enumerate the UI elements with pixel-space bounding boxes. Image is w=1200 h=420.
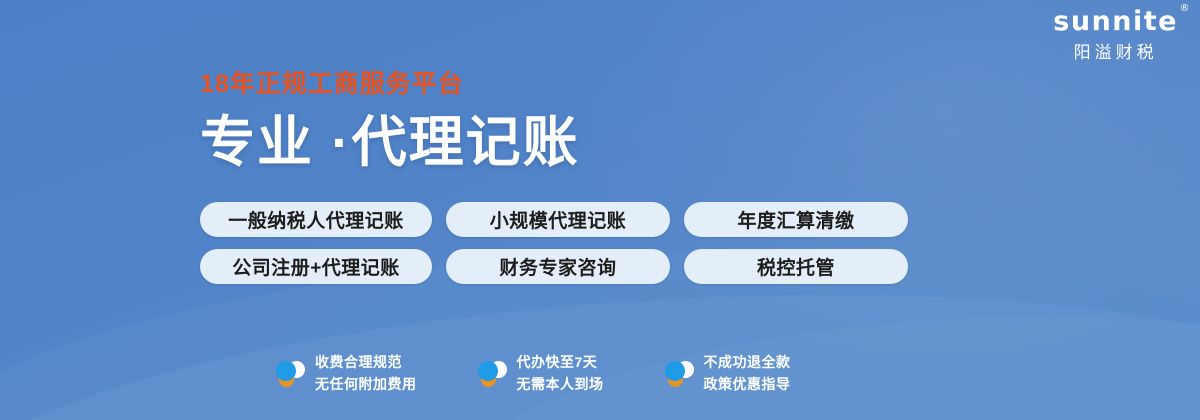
feature-line-1: 收费合理规范 xyxy=(315,352,417,374)
feature-line-1: 代办快至7天 xyxy=(517,352,604,374)
feature-line-2: 政策优惠指导 xyxy=(704,374,791,396)
service-pill[interactable]: 小规模代理记账 xyxy=(446,202,670,237)
service-pill-label: 财务专家咨询 xyxy=(499,253,616,280)
feature-text: 代办快至7天 无需本人到场 xyxy=(517,352,604,395)
feature-item: 收费合理规范 无任何附加费用 xyxy=(275,352,417,395)
headline-block: 18年正规工商服务平台 专业 ·代理记账 xyxy=(200,72,580,172)
logo-wordmark: sunnite ® xyxy=(1053,8,1178,35)
service-pill-group: 一般纳税人代理记账 小规模代理记账 年度汇算清缴 公司注册+代理记账 财务专家咨… xyxy=(200,202,908,284)
service-pill[interactable]: 税控托管 xyxy=(684,249,908,284)
circle-shape xyxy=(665,361,685,381)
logo-wordmark-text: sunnite xyxy=(1053,6,1178,37)
service-pill-label: 公司注册+代理记账 xyxy=(232,253,400,280)
brand-logo[interactable]: sunnite ® 阳溢财税 xyxy=(1053,8,1178,61)
promo-tagline: 18年正规工商服务平台 xyxy=(200,72,580,97)
circle-moon-drop-icon xyxy=(664,359,694,389)
page-title: 专业 ·代理记账 xyxy=(200,113,580,172)
feature-line-1: 不成功退全款 xyxy=(704,352,791,374)
feature-item: 代办快至7天 无需本人到场 xyxy=(477,352,604,395)
service-pill[interactable]: 财务专家咨询 xyxy=(446,249,670,284)
feature-line-2: 无任何附加费用 xyxy=(315,374,417,396)
service-pill-label: 年度汇算清缴 xyxy=(737,206,854,233)
circle-shape xyxy=(276,361,296,381)
service-pill[interactable]: 公司注册+代理记账 xyxy=(200,249,432,284)
service-pill-label: 税控托管 xyxy=(757,253,835,280)
feature-text: 收费合理规范 无任何附加费用 xyxy=(315,352,417,395)
service-pill-label: 一般纳税人代理记账 xyxy=(228,206,404,233)
circle-moon-drop-icon xyxy=(275,359,305,389)
service-pill-label: 小规模代理记账 xyxy=(490,206,627,233)
logo-chinese-name: 阳溢财税 xyxy=(1053,44,1178,61)
service-pill[interactable]: 年度汇算清缴 xyxy=(684,202,908,237)
registered-trademark-icon: ® xyxy=(1180,4,1192,14)
promo-banner: sunnite ® 阳溢财税 18年正规工商服务平台 专业 ·代理记账 一般纳税… xyxy=(0,0,1200,420)
service-pill[interactable]: 一般纳税人代理记账 xyxy=(200,202,432,237)
feature-text: 不成功退全款 政策优惠指导 xyxy=(704,352,791,395)
circle-shape xyxy=(478,361,498,381)
feature-line-2: 无需本人到场 xyxy=(517,374,604,396)
feature-item: 不成功退全款 政策优惠指导 xyxy=(664,352,791,395)
feature-strip: 收费合理规范 无任何附加费用 代办快至7天 无需本人到场 不成功退全款 xyxy=(275,352,791,395)
circle-moon-drop-icon xyxy=(477,359,507,389)
